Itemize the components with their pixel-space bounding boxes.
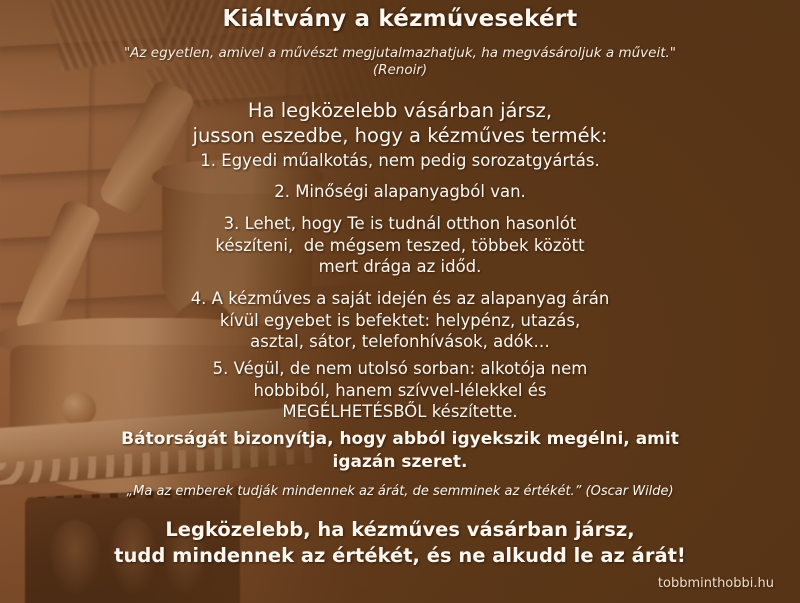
lead-in-text: Ha legközelebb vásárban jársz, jusson es… xyxy=(0,98,800,148)
list-item-4-line-3: asztal, sátor, telefonhívások, adók… xyxy=(0,331,800,353)
list-item-1: 1. Egyedi műalkotás, nem pedig sorozatgy… xyxy=(0,150,800,172)
lead-in-line-2: jusson eszedbe, hogy a kézműves termék: xyxy=(0,123,800,148)
list-item-4-line-1: 4. A kézműves a saját idején és az alapa… xyxy=(0,288,800,310)
call-to-action-line-2: tudd mindennek az értékét, és ne alkudd … xyxy=(0,543,800,569)
closing-statement-line-1: Bátorságát bizonyítja, hogy abból igyeks… xyxy=(0,428,800,451)
list-item-3: 3. Lehet, hogy Te is tudnál otthon hason… xyxy=(0,213,800,278)
list-item-5-line-3: MEGÉLHETÉSBŐL készítette. xyxy=(0,401,800,423)
list-item-4: 4. A kézműves a saját idején és az alapa… xyxy=(0,288,800,353)
poster-image: Kiáltvány a kézművesekért "Az egyetlen, … xyxy=(0,0,800,603)
list-item-3-line-2: készíteni, de mégsem teszed, többek közö… xyxy=(0,235,800,257)
wilde-quote: „Ma az emberek tudják mindennek az árát,… xyxy=(0,484,800,500)
renoir-epigraph-line-1: "Az egyetlen, amivel a művészt megjutalm… xyxy=(0,45,800,62)
page-title: Kiáltvány a kézművesekért xyxy=(0,6,800,32)
list-item-1-line-1: 1. Egyedi műalkotás, nem pedig sorozatgy… xyxy=(0,150,800,172)
renoir-epigraph-attribution: (Renoir) xyxy=(0,62,800,79)
list-item-3-line-3: mert drága az időd. xyxy=(0,256,800,278)
poster-text-content: Kiáltvány a kézművesekért "Az egyetlen, … xyxy=(0,0,800,603)
call-to-action: Legközelebb, ha kézműves vásárban jársz,… xyxy=(0,517,800,569)
call-to-action-line-1: Legközelebb, ha kézműves vásárban jársz, xyxy=(0,517,800,543)
list-item-5: 5. Végül, de nem utolsó sorban: alkotója… xyxy=(0,358,800,423)
list-item-5-line-2: hobbiból, hanem szívvel-lélekkel és xyxy=(0,380,800,402)
list-item-3-line-1: 3. Lehet, hogy Te is tudnál otthon hason… xyxy=(0,213,800,235)
closing-statement-line-2: igazán szeret. xyxy=(0,451,800,474)
lead-in-line-1: Ha legközelebb vásárban jársz, xyxy=(0,98,800,123)
list-item-5-line-1: 5. Végül, de nem utolsó sorban: alkotója… xyxy=(0,358,800,380)
renoir-epigraph: "Az egyetlen, amivel a művészt megjutalm… xyxy=(0,45,800,78)
list-item-4-line-2: kívül egyebet is befektet: helypénz, uta… xyxy=(0,310,800,332)
website-credit: tobbminthobbi.hu xyxy=(658,576,774,591)
list-item-2: 2. Minőségi alapanyagból van. xyxy=(0,181,800,203)
closing-statement: Bátorságát bizonyítja, hogy abból igyeks… xyxy=(0,428,800,474)
list-item-2-line-1: 2. Minőségi alapanyagból van. xyxy=(0,181,800,203)
